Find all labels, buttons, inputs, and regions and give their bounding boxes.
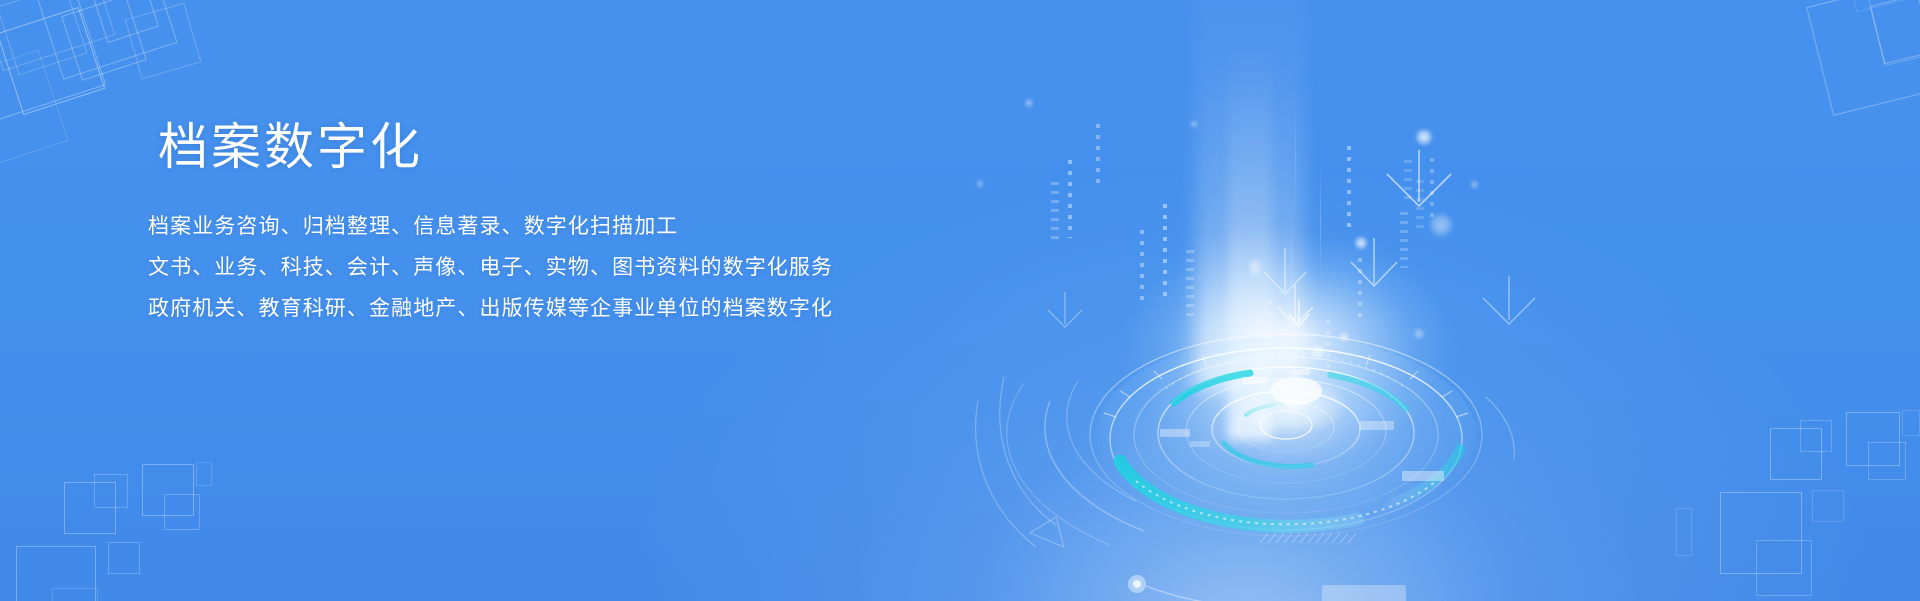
banner-subtitle-list: 档案业务咨询、归档整理、信息著录、数字化扫描加工 文书、业务、科技、会计、声像、…: [148, 207, 1048, 330]
page-title: 档案数字化: [148, 118, 1048, 177]
radar-hud-icon: [960, 285, 1600, 601]
radar-hud-svg: [960, 285, 1600, 601]
banner-subtitle-line: 文书、业务、科技、会计、声像、电子、实物、图书资料的数字化服务: [148, 248, 1048, 289]
radar-hatch: [1260, 533, 1356, 543]
banner-subtitle-line: 档案业务咨询、归档整理、信息著录、数字化扫描加工: [148, 207, 1048, 248]
banner-hero: 档案数字化 档案业务咨询、归档整理、信息著录、数字化扫描加工 文书、业务、科技、…: [0, 0, 1920, 601]
radar-connector: [1128, 575, 1406, 601]
radar-bracket: [976, 377, 1064, 547]
banner-subtitle-line: 政府机关、教育科研、金融地产、出版传媒等企事业单位的档案数字化: [148, 289, 1048, 330]
banner-text-block: 档案数字化 档案业务咨询、归档整理、信息著录、数字化扫描加工 文书、业务、科技、…: [148, 118, 1048, 330]
